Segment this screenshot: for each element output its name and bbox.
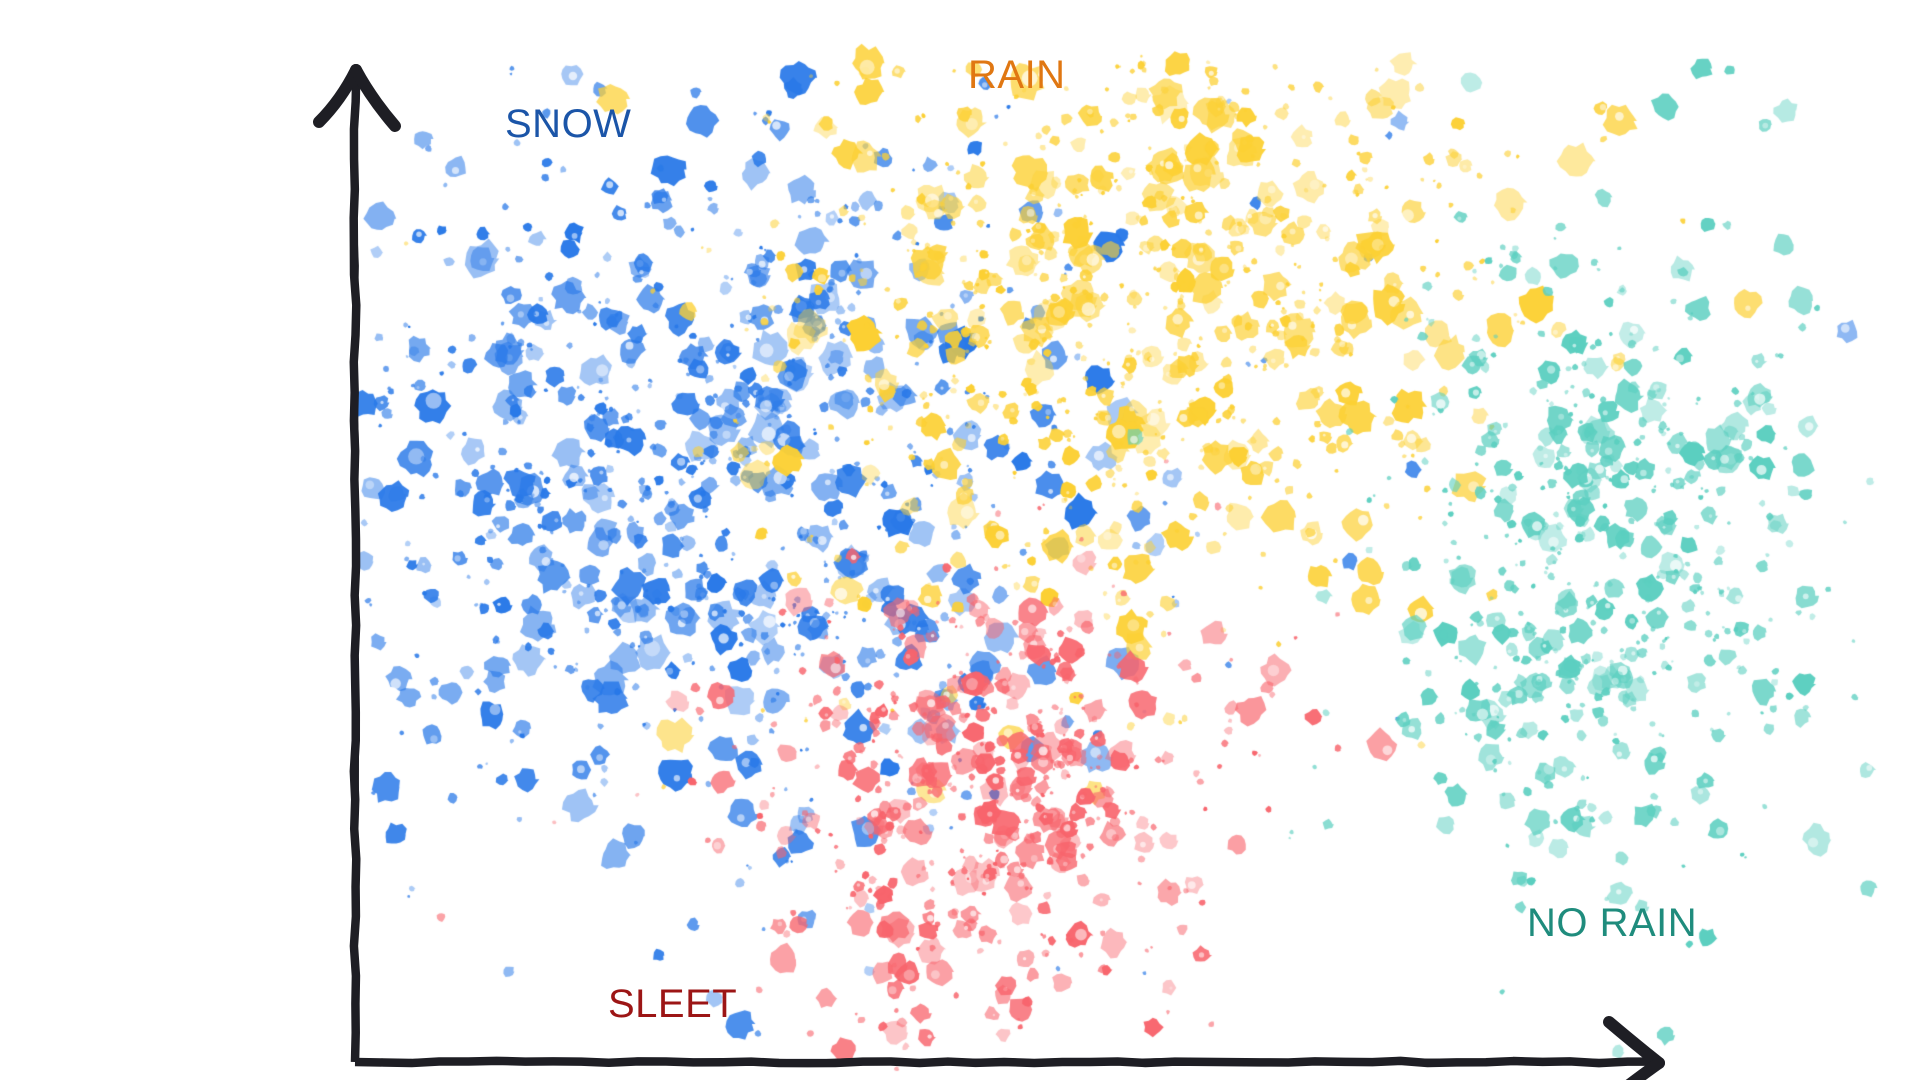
cluster-label-sleet: SLEET xyxy=(608,984,737,1024)
cluster-label-no-rain: NO RAIN xyxy=(1527,903,1697,943)
cluster-label-rain: RAIN xyxy=(968,55,1066,95)
cluster-label-snow: SNOW xyxy=(505,104,631,144)
scatter-plot-figure: SNOW RAIN SLEET NO RAIN xyxy=(0,0,1920,1080)
